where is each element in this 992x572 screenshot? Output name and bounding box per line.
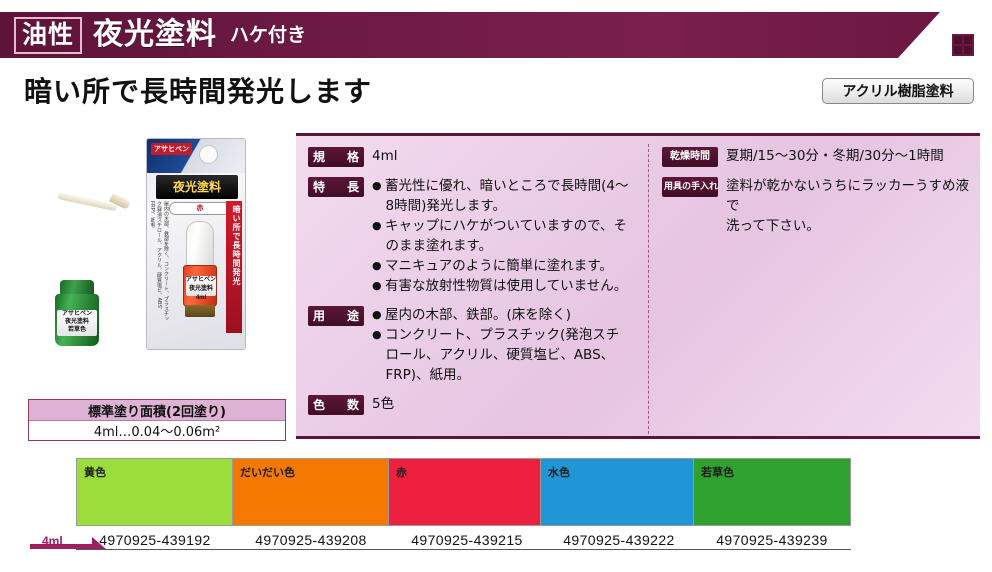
spec-value-line: 8時間)発光します。 — [372, 196, 629, 216]
product-photo: アサヒペン 夜光塗料 赤 屋内の木部、鉄部を除く、コンクリート、プラスチック(発… — [14, 132, 286, 392]
specification-table: 規格4ml特長蓄光性に優れ、暗いところで長時間(4〜 8時間)発光します。キャッ… — [296, 133, 980, 439]
spec-value-line: ロール、アクリル、硬質塩ビ、ABS、 — [372, 345, 619, 365]
color-swatch-code: 4970925-439239 — [693, 532, 851, 550]
spec-row-label: 用具の手入れ — [662, 177, 718, 197]
bottle-size: 4ml — [186, 294, 216, 303]
spec-value-line: 塗料が乾かないうちにラッカーうすめ液で — [726, 176, 970, 216]
spec-label-char: 格 — [347, 151, 359, 163]
spec-row-value: 夏期/15〜30分・冬期/30分〜1時間 — [726, 146, 944, 166]
spec-value-line: 5色 — [372, 394, 394, 414]
spec-row-label: 規格 — [308, 147, 364, 167]
bottle-label: アサヒペン 夜光塗料 4ml — [186, 276, 216, 296]
color-swatch-code: 4970925-439208 — [232, 532, 390, 550]
spec-row-value: 塗料が乾かないうちにラッカーうすめ液で洗って下さい。 — [726, 176, 970, 236]
color-swatch[interactable]: 若草色4970925-439239 — [693, 458, 851, 550]
color-swatch[interactable]: 水色4970925-439222 — [540, 458, 698, 550]
green-bottle-name: 夜光塗料 — [57, 318, 97, 326]
spec-value-line: FRP)、紙用。 — [372, 365, 619, 385]
brush-stem — [57, 192, 117, 211]
color-swatch-name: 水色 — [548, 464, 570, 480]
spec-label-char: 途 — [347, 310, 359, 322]
color-swatch[interactable]: だいだい色4970925-439208 — [232, 458, 390, 550]
spec-value-line: マニキュアのように簡単に塗れます。 — [372, 256, 629, 276]
blister-pack-image: アサヒペン 夜光塗料 赤 屋内の木部、鉄部を除く、コンクリート、プラスチック(発… — [146, 138, 246, 350]
bottle-cap — [186, 221, 214, 267]
coverage-area-box: 標準塗り面積(2回塗り) 4ml…0.04〜0.06m² — [28, 399, 286, 441]
header-banner — [0, 12, 940, 58]
spec-row-value: 4ml — [372, 146, 398, 166]
color-swatch-name: だいだい色 — [240, 464, 295, 480]
spec-label-char: 色 — [313, 399, 325, 411]
color-swatch-code: 4970925-439215 — [388, 532, 546, 550]
color-swatch-name: 若草色 — [701, 464, 734, 480]
bottle-name: 夜光塗料 — [186, 285, 216, 294]
spec-label-char: 規 — [313, 151, 325, 163]
coverage-heading: 標準塗り面積(2回塗り) — [29, 400, 285, 421]
red-paint-bottle: アサヒペン 夜光塗料 4ml — [183, 221, 217, 317]
volume-tag: 4ml — [30, 534, 106, 551]
spec-row: 特長蓄光性に優れ、暗いところで長時間(4〜 8時間)発光します。キャップにハケが… — [308, 176, 644, 296]
color-swatch-chip[interactable]: 赤 — [388, 458, 546, 526]
spec-value-line: 洗って下さい。 — [726, 216, 970, 236]
brush-applicator — [58, 188, 132, 214]
blister-product-name: 夜光塗料 — [156, 175, 238, 199]
spec-value-line: 4ml — [372, 146, 398, 166]
blister-brand-logo: アサヒペン — [151, 143, 192, 155]
color-swatch-chip[interactable]: だいだい色 — [232, 458, 390, 526]
spec-value-line: コンクリート、プラスチック(発泡スチ — [372, 325, 619, 345]
color-swatch-chip[interactable]: 水色 — [540, 458, 698, 526]
spec-label-char: 長 — [347, 181, 359, 193]
spec-column-left: 規格4ml特長蓄光性に優れ、暗いところで長時間(4〜 8時間)発光します。キャッ… — [308, 146, 644, 424]
spec-row: 乾燥時間夏期/15〜30分・冬期/30分〜1時間 — [662, 146, 970, 167]
spec-row-value: 5色 — [372, 394, 394, 414]
color-swatch-name: 赤 — [396, 464, 407, 480]
spec-row-label: 特長 — [308, 177, 364, 197]
coverage-value: 4ml…0.04〜0.06m² — [29, 421, 285, 440]
color-swatch-name: 黄色 — [84, 464, 106, 480]
color-swatch-chip[interactable]: 黄色 — [76, 458, 234, 526]
blister-usage-text: 屋内の木部、鉄部を除く、コンクリート、プラスチック(発泡スチロール、アクリル、硬… — [151, 201, 169, 321]
volume-tag-label: 4ml — [42, 534, 63, 548]
bottle-body: アサヒペン 夜光塗料 4ml — [183, 265, 217, 307]
spec-column-right: 乾燥時間夏期/15〜30分・冬期/30分〜1時間用具の手入れ塗料が乾かないうちに… — [662, 146, 970, 245]
spec-row-label: 乾燥時間 — [662, 147, 718, 167]
green-bottle-brand: アサヒペン — [57, 310, 97, 318]
spec-row-value: 屋内の木部、鉄部。(床を除く)コンクリート、プラスチック(発泡スチ ロール、アク… — [372, 305, 619, 385]
resin-type-badge: アクリル樹脂塗料 — [822, 78, 974, 104]
spec-value-line: 蓄光性に優れ、暗いところで長時間(4〜 — [372, 176, 629, 196]
color-swatch-code: 4970925-439222 — [540, 532, 698, 550]
spec-row-value: 蓄光性に優れ、暗いところで長時間(4〜 8時間)発光します。キャップにハケがつい… — [372, 176, 629, 296]
color-swatch-strip: 黄色4970925-439192だいだい色4970925-439208赤4970… — [0, 458, 992, 568]
color-swatch[interactable]: 赤4970925-439215 — [388, 458, 546, 550]
spec-label-char: 特 — [313, 181, 325, 193]
spec-value-line: のまま塗れます。 — [372, 236, 629, 256]
bottle-brand: アサヒペン — [186, 276, 216, 285]
spec-row-label: 用途 — [308, 306, 364, 326]
spec-label-char: 用 — [313, 310, 325, 322]
spec-value-line: 有害な放射性物質は使用していません。 — [372, 276, 629, 296]
spec-row-label: 色数 — [308, 395, 364, 415]
green-bottle-image: アサヒペン 夜光塗料 若草色 — [46, 280, 108, 356]
grid-square-icon — [952, 34, 974, 56]
spec-value-line: 屋内の木部、鉄部。(床を除く) — [372, 305, 619, 325]
green-bottle-label: アサヒペン 夜光塗料 若草色 — [57, 310, 97, 336]
spec-label-char: 数 — [347, 399, 359, 411]
spec-value-line: キャップにハケがついていますので、そ — [372, 216, 629, 236]
color-swatch-chip[interactable]: 若草色 — [693, 458, 851, 526]
spec-row: 色数5色 — [308, 394, 644, 415]
spec-column-divider — [648, 144, 649, 434]
blister-color-label: 赤 — [169, 202, 231, 215]
blister-hang-hole — [199, 145, 218, 164]
spec-row: 規格4ml — [308, 146, 644, 167]
spec-row: 用途屋内の木部、鉄部。(床を除く)コンクリート、プラスチック(発泡スチ ロール、… — [308, 305, 644, 385]
green-bottle-color: 若草色 — [57, 326, 97, 334]
spec-row: 用具の手入れ塗料が乾かないうちにラッカーうすめ液で洗って下さい。 — [662, 176, 970, 236]
blister-side-text: 暗い所で長時間発光 — [226, 201, 242, 333]
tagline-text: 暗い所で長時間発光します — [24, 70, 372, 110]
spec-value-line: 夏期/15〜30分・冬期/30分〜1時間 — [726, 146, 944, 166]
green-bottle-body: アサヒペン 夜光塗料 若草色 — [55, 294, 99, 346]
bottle-base-shadow — [185, 305, 215, 317]
